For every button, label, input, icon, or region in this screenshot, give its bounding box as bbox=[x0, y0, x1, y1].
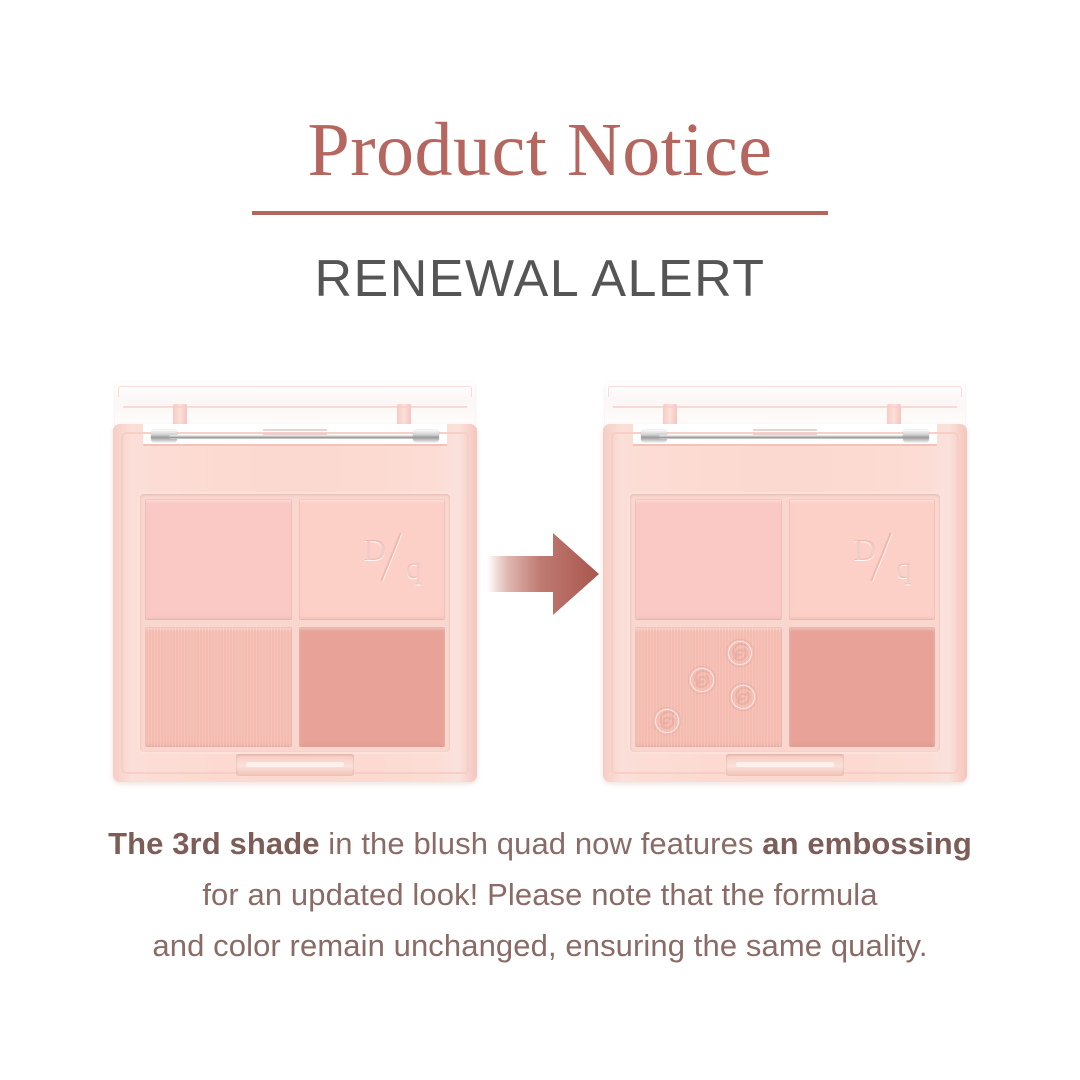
hinge-cap-right-icon bbox=[413, 430, 439, 442]
pan-after-top-left[interactable] bbox=[635, 499, 782, 620]
hinge-cap-right-icon bbox=[903, 430, 929, 442]
notice-line-2: for an updated look! Please note that th… bbox=[0, 869, 1080, 920]
pan-after-bottom-right[interactable] bbox=[789, 627, 936, 748]
hinge-imprint-icon bbox=[263, 429, 327, 438]
brandmark-dq-icon: D q bbox=[364, 532, 422, 584]
pan-tray-before: D q bbox=[140, 494, 450, 752]
notice-bold-tail: an embossing bbox=[762, 826, 972, 861]
brandmark-dq-icon: D q bbox=[854, 532, 912, 584]
hinge-imprint-icon bbox=[753, 429, 817, 438]
pan-before-top-left[interactable] bbox=[145, 499, 292, 620]
page-header: Product Notice RENEWAL ALERT bbox=[0, 0, 1080, 309]
brandmark-letter-q: q bbox=[896, 552, 912, 583]
pan-before-bottom-left[interactable] bbox=[145, 627, 292, 748]
page-title: Product Notice bbox=[0, 0, 1080, 188]
rose-embossing-group bbox=[635, 627, 782, 748]
notice-line-1: The 3rd shade in the blush quad now feat… bbox=[0, 818, 1080, 869]
palette-before: D q bbox=[113, 382, 477, 782]
right-arrow-icon bbox=[487, 530, 599, 618]
palette-after: D q bbox=[603, 382, 967, 782]
pan-after-top-right[interactable]: D q bbox=[789, 499, 936, 620]
rose-emboss-icon bbox=[644, 699, 690, 745]
palette-case-before: D q bbox=[113, 424, 477, 782]
hinge-assembly-after bbox=[641, 429, 929, 443]
pan-before-top-right[interactable]: D q bbox=[299, 499, 446, 620]
rose-emboss-icon bbox=[679, 658, 725, 704]
before-after-comparison: D q bbox=[0, 382, 1080, 782]
brandmark-letter-d: D bbox=[854, 534, 876, 565]
hinge-assembly-before bbox=[151, 429, 439, 443]
notice-line-1-middle: in the blush quad now features bbox=[320, 826, 763, 861]
pan-after-bottom-left[interactable] bbox=[635, 627, 782, 748]
palette-case-after: D q bbox=[603, 424, 967, 782]
pan-tray-after: D q bbox=[630, 494, 940, 752]
thumb-push-notch-after[interactable] bbox=[726, 754, 844, 776]
rose-emboss-icon bbox=[720, 675, 766, 721]
page-subtitle: RENEWAL ALERT bbox=[0, 215, 1080, 309]
notice-body-copy: The 3rd shade in the blush quad now feat… bbox=[0, 818, 1080, 971]
brandmark-letter-d: D bbox=[364, 534, 386, 565]
brandmark-letter-q: q bbox=[406, 552, 422, 583]
pan-before-bottom-right[interactable] bbox=[299, 627, 446, 748]
rose-emboss-icon bbox=[717, 631, 763, 677]
thumb-push-notch-before[interactable] bbox=[236, 754, 354, 776]
notice-line-3: and color remain unchanged, ensuring the… bbox=[0, 920, 1080, 971]
notice-bold-lead: The 3rd shade bbox=[108, 826, 319, 861]
